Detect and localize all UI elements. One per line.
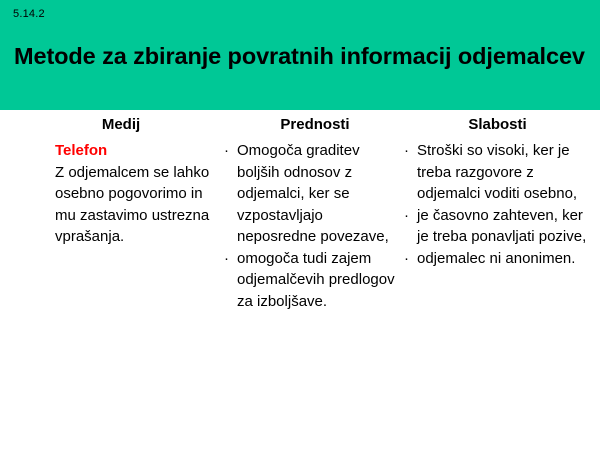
list-item: · omogoča tudi zajem odjemalčevih predlo…	[222, 248, 398, 313]
column-header-medium: Medij	[55, 110, 215, 140]
list-item-label: Omogoča graditev boljših odnosov z odjem…	[237, 142, 389, 245]
bullet-icon: ·	[404, 248, 409, 270]
list-item: · Omogoča graditev boljših odnosov z odj…	[222, 140, 398, 248]
comparison-table: Medij Telefon Z odjemalcem se lahko oseb…	[0, 110, 600, 450]
medium-description: Z odjemalcem se lahko osebno pogovorimo …	[55, 162, 215, 248]
column-advantages: Prednosti · Omogoča graditev boljših odn…	[222, 110, 398, 312]
list-item-label: odjemalec ni anonimen.	[417, 250, 575, 267]
list-item-label: Stroški so visoki, ker je treba razgovor…	[417, 142, 577, 202]
list-item: · je časovno zahteven, ker je treba pona…	[402, 205, 587, 248]
column-header-disadvantages: Slabosti	[402, 110, 587, 140]
slide: 5.14.2 Metode za zbiranje povratnih info…	[0, 0, 600, 450]
medium-name: Telefon	[55, 140, 215, 162]
column-body-disadvantages: · Stroški so visoki, ker je treba razgov…	[402, 140, 587, 269]
list-item: · odjemalec ni anonimen.	[402, 248, 587, 270]
list-item-label: je časovno zahteven, ker je treba ponavl…	[417, 207, 586, 246]
column-disadvantages: Slabosti · Stroški so visoki, ker je tre…	[402, 110, 587, 269]
column-header-advantages: Prednosti	[222, 110, 398, 140]
column-medium: Medij Telefon Z odjemalcem se lahko oseb…	[55, 110, 215, 248]
title-banner: 5.14.2 Metode za zbiranje povratnih info…	[0, 0, 600, 110]
bullet-icon: ·	[224, 248, 229, 270]
bullet-icon: ·	[224, 140, 229, 162]
page-title: Metode za zbiranje povratnih informacij …	[14, 43, 594, 70]
disadvantages-list: · Stroški so visoki, ker je treba razgov…	[402, 140, 587, 269]
list-item: · Stroški so visoki, ker je treba razgov…	[402, 140, 587, 205]
bullet-icon: ·	[404, 205, 409, 227]
column-body-advantages: · Omogoča graditev boljših odnosov z odj…	[222, 140, 398, 312]
advantages-list: · Omogoča graditev boljših odnosov z odj…	[222, 140, 398, 312]
slide-number: 5.14.2	[13, 8, 45, 20]
column-body-medium: Telefon Z odjemalcem se lahko osebno pog…	[55, 140, 215, 248]
bullet-icon: ·	[404, 140, 409, 162]
list-item-label: omogoča tudi zajem odjemalčevih predlogo…	[237, 250, 395, 310]
